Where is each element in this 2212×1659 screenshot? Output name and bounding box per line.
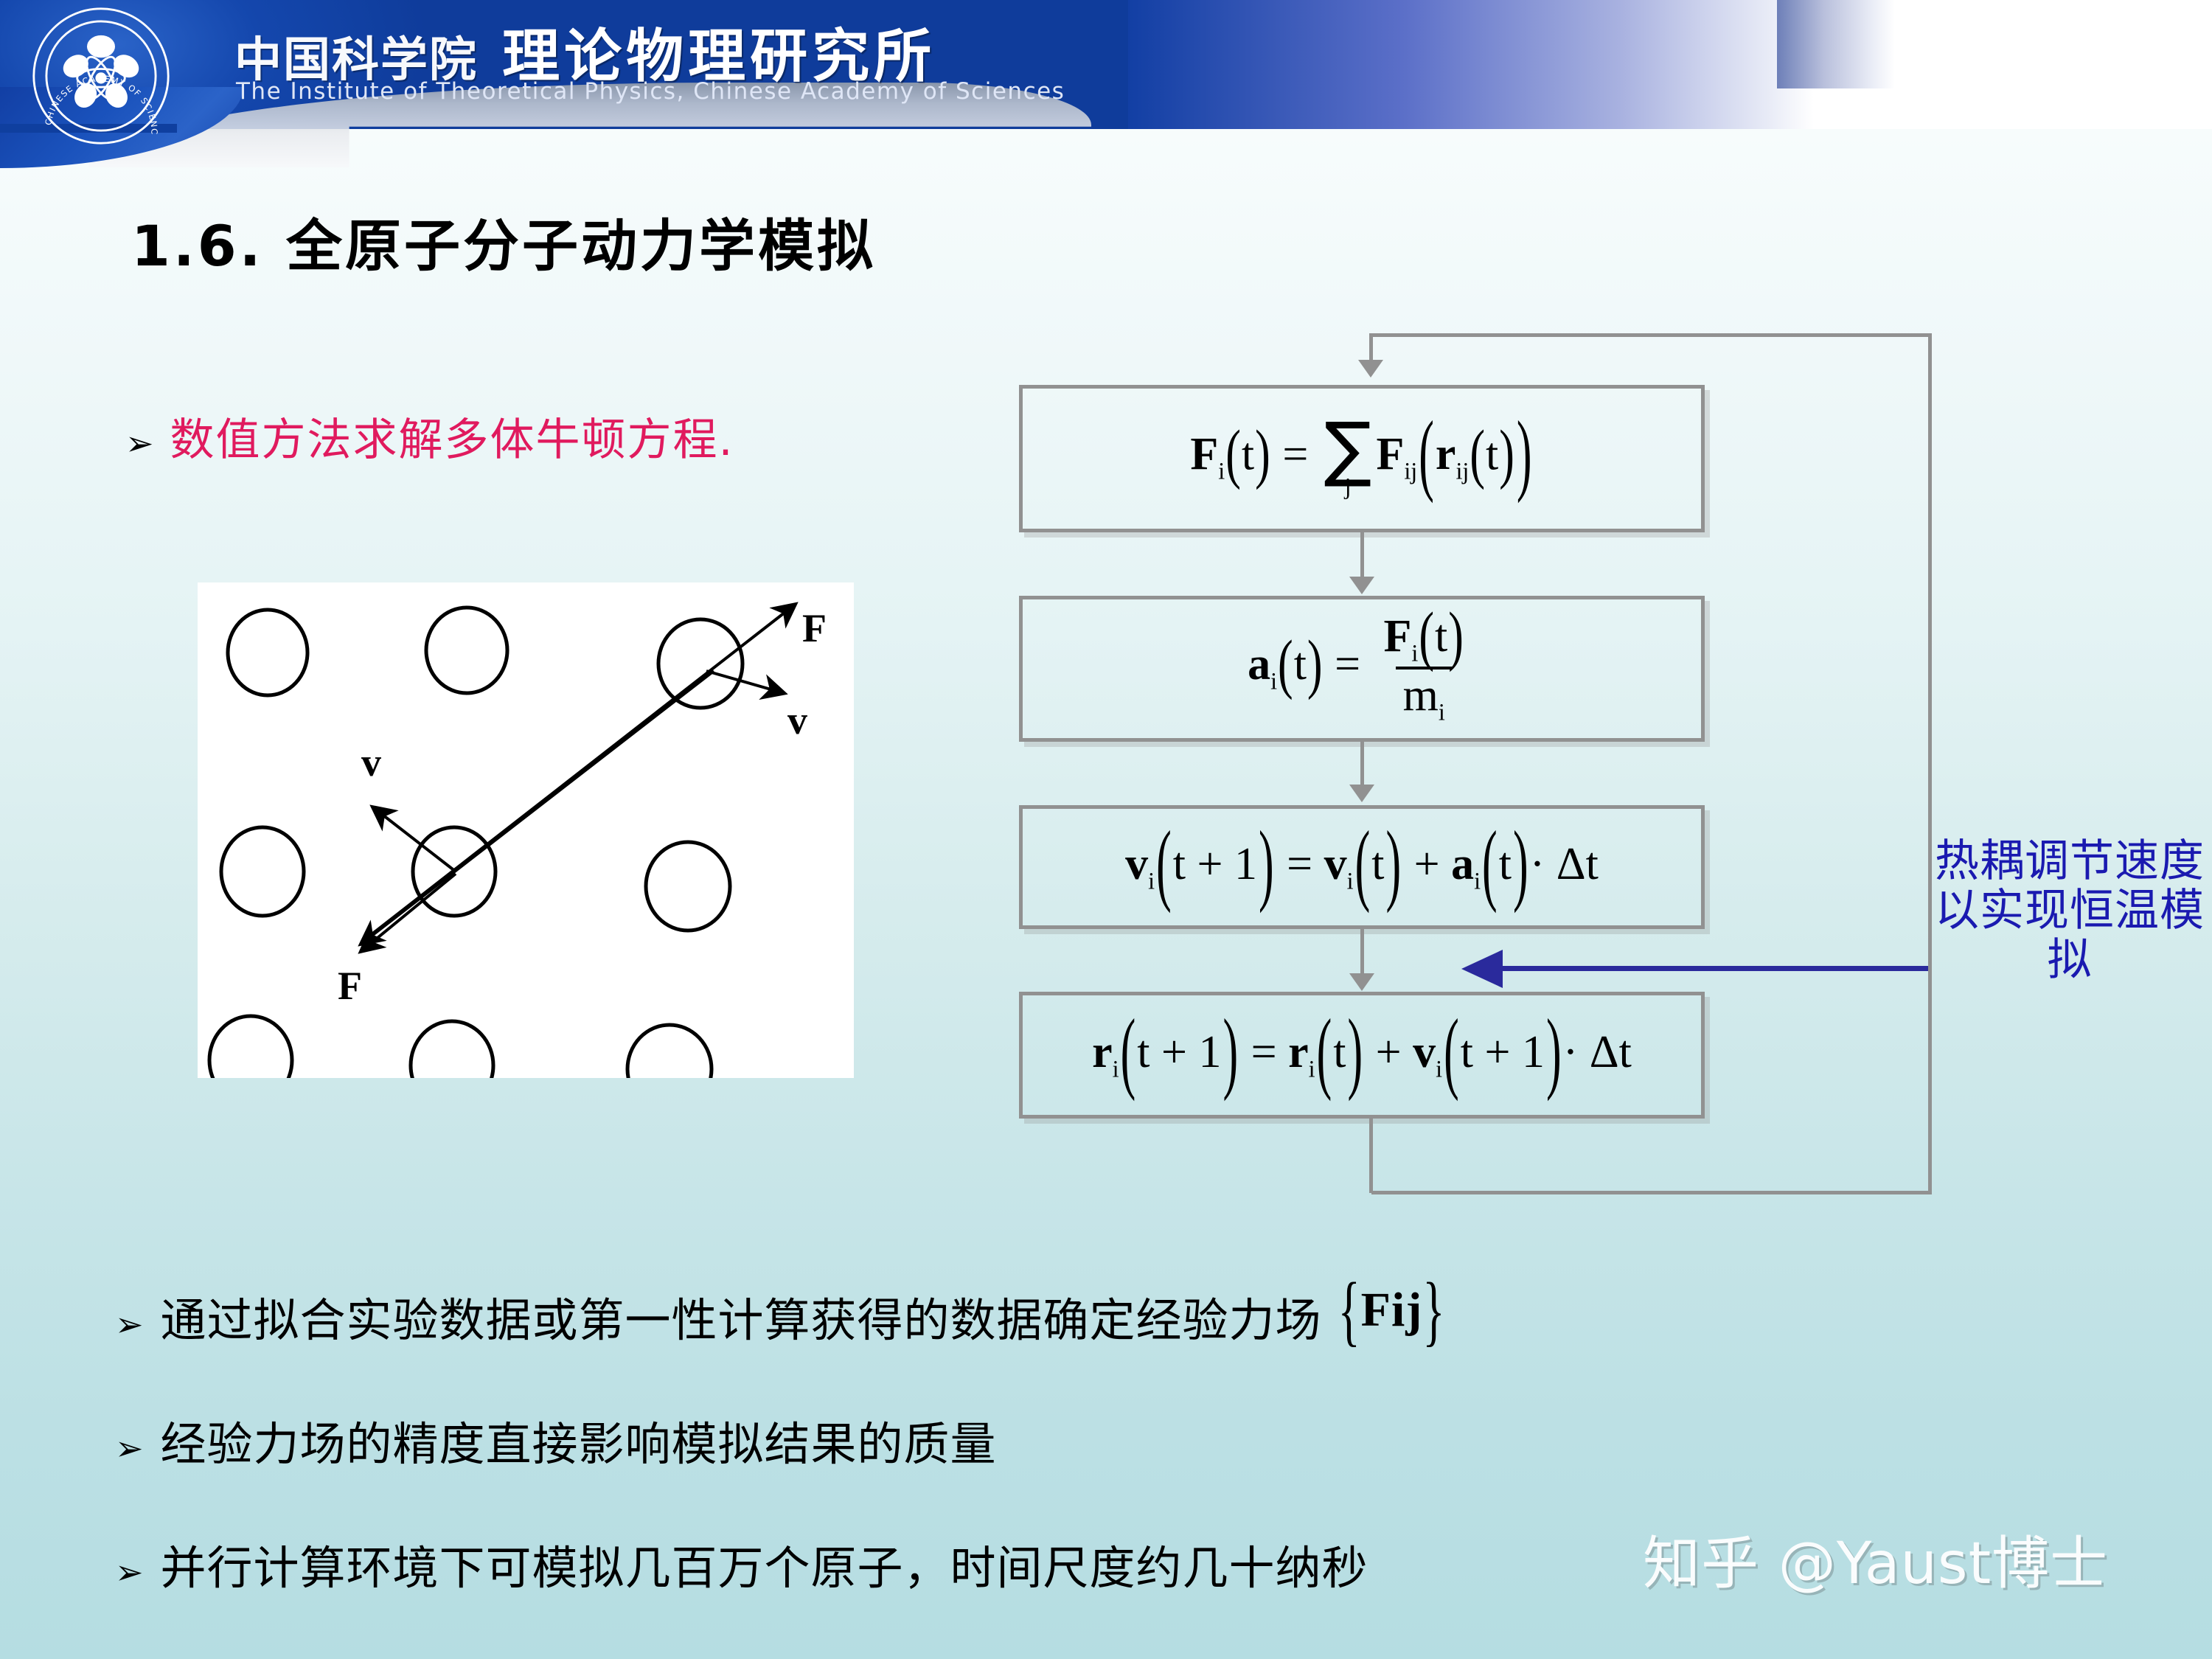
header-banner: CHINESE ACADEMY OF SCIENCES 中国科学院 理论物理研究… bbox=[0, 0, 2212, 129]
bullet-bottom-2-text: 经验力场的精度直接影响模拟结果的质量 bbox=[161, 1407, 997, 1473]
bullet-arrow-icon: ➢ bbox=[115, 1307, 145, 1341]
atom-circle bbox=[658, 619, 742, 708]
molecule-svg: F v v F bbox=[198, 582, 854, 1078]
arrow2-head bbox=[1349, 785, 1374, 802]
thermostat-arrow-icon bbox=[1461, 950, 1503, 988]
atom-circle bbox=[209, 1016, 292, 1078]
cas-emblem-icon: CHINESE ACADEMY OF SCIENCES bbox=[31, 6, 171, 146]
forcefield-set-math: {Fij} bbox=[1338, 1282, 1446, 1338]
bullet-arrow-icon: ➢ bbox=[115, 1431, 145, 1465]
vector-labels: F v v F bbox=[338, 606, 827, 1008]
equation-acceleration: ai(t) = Fi(t) mi bbox=[1248, 613, 1476, 724]
label-F-lower: F bbox=[338, 964, 362, 1008]
atom-circle bbox=[426, 608, 507, 693]
bullet-bottom-3: ➢ 并行计算环境下可模拟几百万个原子，时间尺度约几十纳秒 bbox=[115, 1531, 1368, 1597]
arrow1-head bbox=[1349, 577, 1374, 594]
thermostat-annotation: 热耦调节速度以实现恒温模拟 bbox=[1926, 837, 2212, 986]
bullet-bottom-2: ➢ 经验力场的精度直接影响模拟结果的质量 bbox=[115, 1407, 997, 1473]
bullet-bottom-1: ➢ 通过拟合实验数据或第一性计算获得的数据确定经验力场 {Fij} bbox=[115, 1283, 1445, 1349]
banner-english-name: The Institute of Theoretical Physics, Ch… bbox=[236, 78, 1065, 105]
arrow3-line bbox=[1360, 929, 1364, 975]
arrow3-head bbox=[1349, 973, 1374, 991]
equation-box-acceleration: ai(t) = Fi(t) mi bbox=[1019, 596, 1705, 742]
equation-velocity: vi(t + 1) = vi(t) + ai(t)· Δt bbox=[1125, 841, 1599, 893]
loop-entry-arrowhead bbox=[1358, 360, 1383, 378]
equation-force: Fi(t) = ∑jFij(rij(t)) bbox=[1190, 420, 1533, 498]
loop-left-riser bbox=[1369, 1119, 1373, 1193]
arrow2-line bbox=[1360, 742, 1364, 786]
label-v-mid: v bbox=[361, 740, 381, 785]
bullet-arrow-icon: ➢ bbox=[125, 426, 154, 460]
bullet-top-text: 数值方法求解多体牛顿方程. bbox=[170, 404, 734, 468]
atom-circle bbox=[228, 610, 307, 695]
loop-entry-stub bbox=[1369, 333, 1373, 361]
label-F-upper: F bbox=[802, 606, 827, 650]
loop-right-riser bbox=[1928, 333, 1932, 1193]
loop-top-segment bbox=[1369, 333, 1931, 337]
atom-circle bbox=[646, 842, 730, 931]
equation-position: ri(t + 1) = ri(t) + vi(t + 1)· Δt bbox=[1092, 1029, 1632, 1081]
atom-circle bbox=[411, 1021, 493, 1078]
bullet-bottom-1-text: 通过拟合实验数据或第一性计算获得的数据确定经验力场 bbox=[161, 1283, 1322, 1349]
atom-circle bbox=[627, 1025, 712, 1078]
bullet-bottom-3-text: 并行计算环境下可模拟几百万个原子，时间尺度约几十纳秒 bbox=[161, 1531, 1368, 1597]
atom-circle bbox=[221, 827, 304, 916]
equation-box-velocity: vi(t + 1) = vi(t) + ai(t)· Δt bbox=[1019, 805, 1705, 929]
thermostat-arrow-line bbox=[1497, 966, 1928, 971]
label-v-upper: v bbox=[787, 698, 807, 742]
watermark: 知乎 @Yaust博士 bbox=[1643, 1517, 2108, 1600]
molecule-diagram: F v v F bbox=[198, 582, 854, 1078]
banner-grey-strip bbox=[1777, 0, 1895, 88]
equation-box-position: ri(t + 1) = ri(t) + vi(t + 1)· Δt bbox=[1019, 992, 1705, 1119]
equation-box-force: Fi(t) = ∑jFij(rij(t)) bbox=[1019, 385, 1705, 532]
bullet-arrow-icon: ➢ bbox=[115, 1555, 145, 1589]
loop-bottom-segment bbox=[1371, 1191, 1932, 1194]
arrow1-line bbox=[1360, 532, 1364, 578]
slide-canvas: CHINESE ACADEMY OF SCIENCES 中国科学院 理论物理研究… bbox=[0, 0, 2212, 1659]
page-title: 1.6. 全原子分子动力学模拟 bbox=[131, 201, 876, 282]
banner-gradient-panel bbox=[1128, 0, 1814, 129]
bullet-top: ➢ 数值方法求解多体牛顿方程. bbox=[125, 404, 734, 468]
